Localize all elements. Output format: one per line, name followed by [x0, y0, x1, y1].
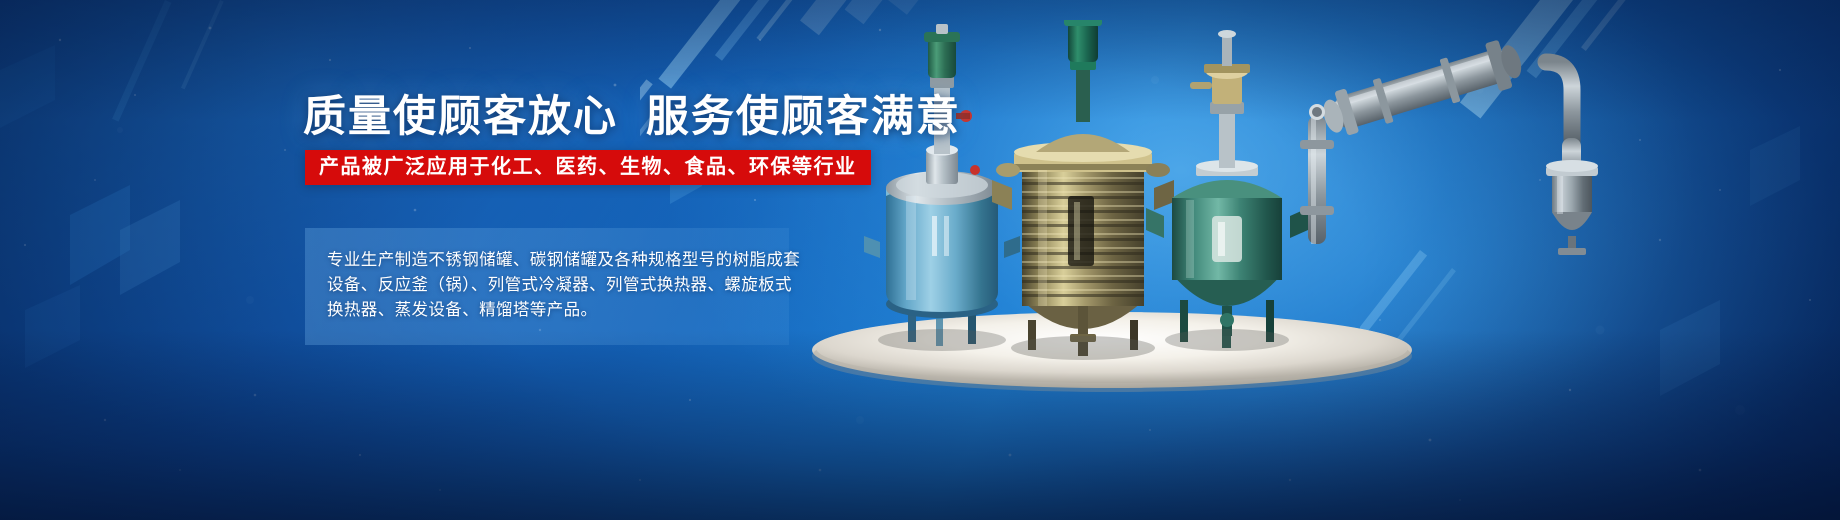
description-line-2: 设备、反应釜（锅）、列管式冷凝器、列管式换热器、螺旋板式	[327, 273, 767, 298]
page-title: 质量使顾客放心 服务使顾客满意	[303, 96, 961, 139]
description-text: 专业生产制造不锈钢储罐、碳钢储罐及各种规格型号的树脂成套 设备、反应釜（锅）、列…	[327, 248, 767, 323]
equipment-tube-condenser-assembly	[1300, 35, 1598, 255]
description-panel: 专业生产制造不锈钢储罐、碳钢储罐及各种规格型号的树脂成套 设备、反应釜（锅）、列…	[305, 228, 789, 345]
equipment-illustration	[760, 20, 1820, 450]
equipment-jacketed-reaction-kettle	[992, 20, 1174, 356]
highlight-banner: 产品被广泛应用于化工、医药、生物、食品、环保等行业	[305, 150, 871, 185]
description-line-1: 专业生产制造不锈钢储罐、碳钢储罐及各种规格型号的树脂成套	[327, 248, 767, 273]
description-line-3: 换热器、蒸发设备、精馏塔等产品。	[327, 298, 767, 323]
promo-banner: 质量使顾客放心 服务使顾客满意 产品被广泛应用于化工、医药、生物、食品、环保等行…	[0, 0, 1840, 520]
